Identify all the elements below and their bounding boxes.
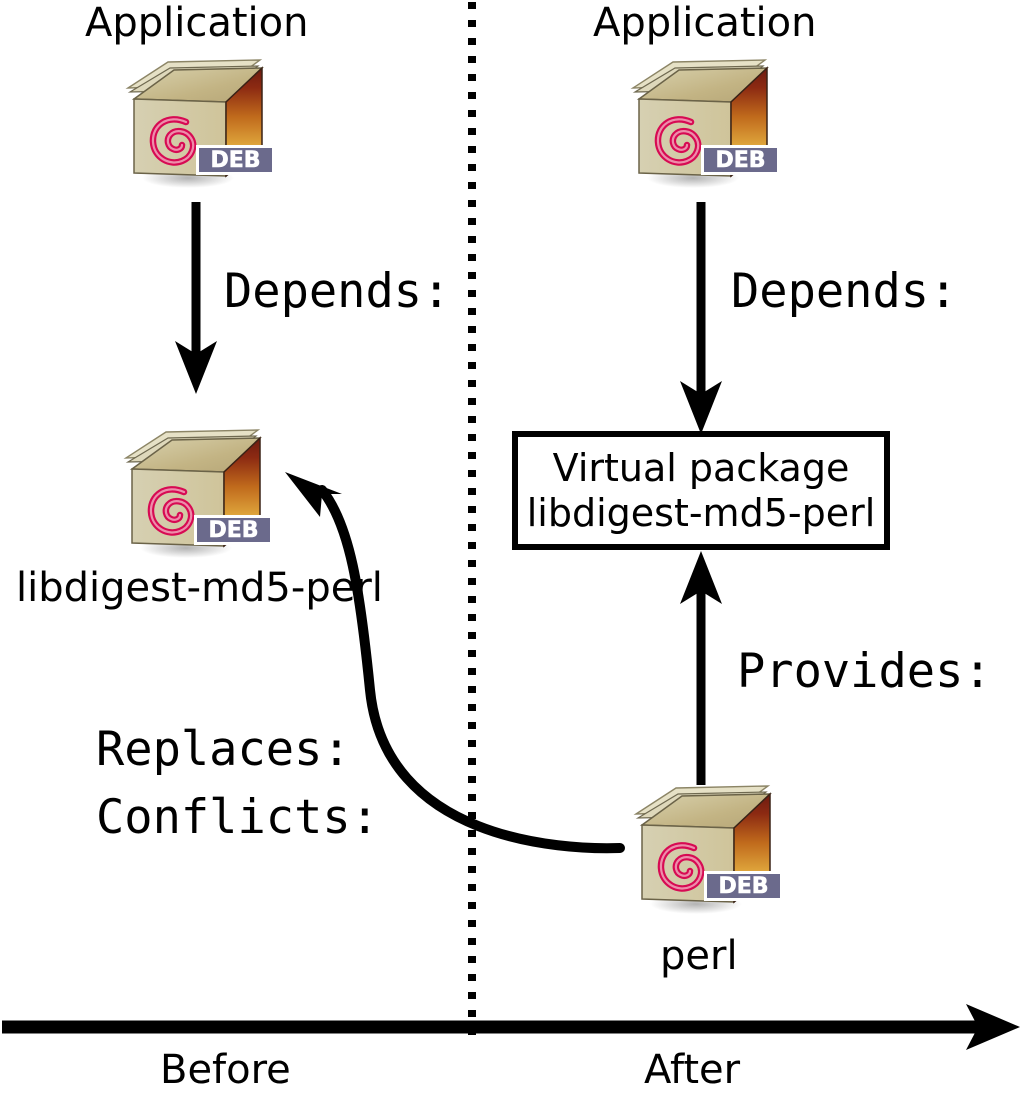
depends-arrow-before [170,198,224,398]
virtual-package-line-1: Virtual package [553,446,850,491]
diagram-canvas: Application [0,0,1024,1094]
deb-badge: DEB [704,871,783,901]
conflicts-label: Conflicts: [96,794,379,841]
debian-package-icon-perl: DEB [618,778,793,918]
virtual-package-line-2: libdigest-md5-perl [527,491,876,536]
debian-package-icon-app-after: DEB [615,52,790,192]
depends-label-before: Depends: [224,268,450,315]
before-application-title: Application [85,3,309,43]
after-application-title: Application [593,3,817,43]
deb-badge: DEB [196,145,275,175]
virtual-package-box: Virtual package libdigest-md5-perl [512,431,890,550]
provides-label: Provides: [737,648,992,695]
debian-package-icon-libdigest: DEB [108,422,283,562]
perl-label: perl [660,936,738,976]
provides-arrow [675,545,729,790]
depends-arrow-after [675,198,729,438]
timeline-before-label: Before [160,1050,291,1090]
svg-text:DEB: DEB [718,874,768,899]
svg-text:DEB: DEB [715,148,765,173]
depends-label-after: Depends: [731,268,957,315]
replaces-label: Replaces: [96,726,351,773]
svg-text:DEB: DEB [210,148,260,173]
timeline-after-label: After [644,1050,740,1090]
timeline-axis-arrow [0,1000,1024,1056]
svg-text:DEB: DEB [208,518,258,543]
deb-badge: DEB [701,145,780,175]
debian-package-icon-app-before: DEB [110,52,285,192]
